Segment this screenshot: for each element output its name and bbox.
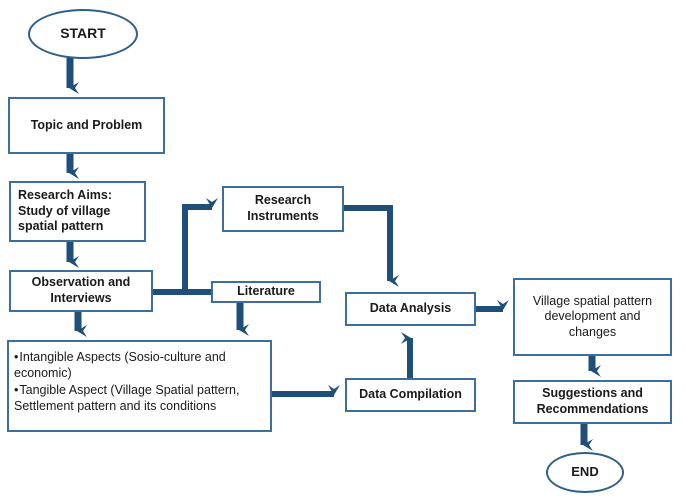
- node-suggestions-and-recommendations-label: Suggestions and Recommendations: [537, 386, 649, 417]
- edge-observation-to-research-instruments: [185, 207, 212, 294]
- node-data-analysis[interactable]: Data Analysis: [345, 292, 476, 326]
- node-end-label: END: [571, 464, 598, 480]
- node-observation-and-interviews-label: Observation and Interviews: [32, 275, 131, 306]
- aspects-bullet-item: Tangible Aspect (Village Spatial pattern…: [14, 382, 265, 415]
- node-research-instruments-label: Research Instruments: [247, 193, 319, 224]
- flowchart-canvas: START Topic and Problem Research Aims: S…: [0, 0, 685, 499]
- node-aspects[interactable]: Intangible Aspects (Sosio-culture and ec…: [7, 340, 272, 432]
- node-data-compilation[interactable]: Data Compilation: [345, 378, 476, 412]
- node-end[interactable]: END: [546, 452, 624, 493]
- node-suggestions-and-recommendations[interactable]: Suggestions and Recommendations: [513, 380, 672, 424]
- node-literature-label: Literature: [237, 284, 295, 300]
- node-literature[interactable]: Literature: [211, 281, 321, 303]
- aspects-bullet-list: Intangible Aspects (Sosio-culture and ec…: [14, 349, 265, 414]
- node-data-compilation-label: Data Compilation: [359, 387, 462, 403]
- node-data-analysis-label: Data Analysis: [370, 301, 452, 317]
- node-topic-and-problem-label: Topic and Problem: [31, 118, 143, 134]
- node-research-instruments[interactable]: Research Instruments: [222, 186, 344, 232]
- node-start-label: START: [60, 25, 106, 43]
- node-village-spatial-pattern-outcome-label: Village spatial pattern development and …: [533, 294, 652, 341]
- aspects-bullet-item: Intangible Aspects (Sosio-culture and ec…: [14, 349, 265, 382]
- node-research-aims[interactable]: Research Aims: Study of village spatial …: [9, 181, 146, 242]
- node-research-aims-label: Research Aims: Study of village spatial …: [18, 188, 112, 235]
- node-observation-and-interviews[interactable]: Observation and Interviews: [9, 270, 153, 312]
- edge-instruments-to-analysis: [344, 208, 390, 281]
- node-topic-and-problem[interactable]: Topic and Problem: [8, 97, 165, 154]
- node-start[interactable]: START: [28, 9, 138, 59]
- node-village-spatial-pattern-outcome[interactable]: Village spatial pattern development and …: [513, 278, 672, 356]
